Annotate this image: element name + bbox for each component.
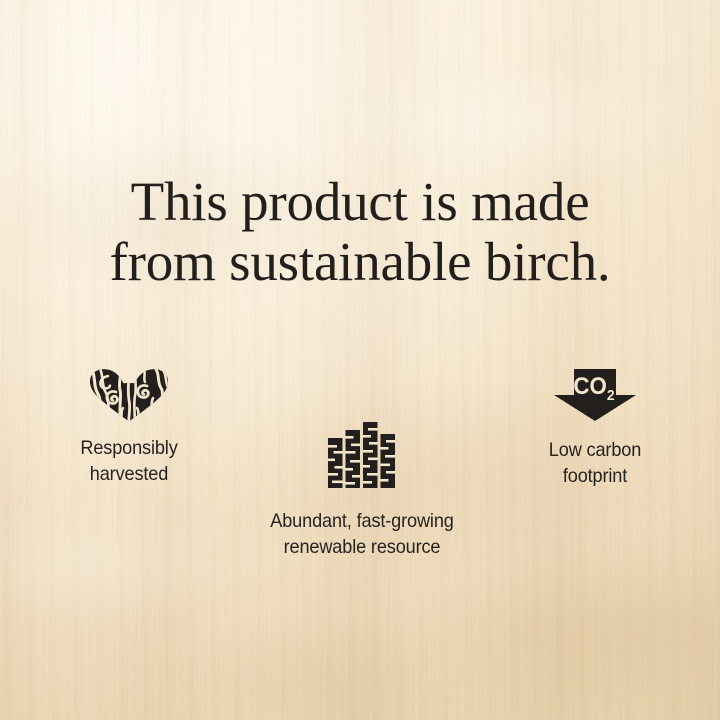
badge-responsibly-harvested: Responsibly harvested (29, 366, 229, 488)
badge-abundant-renewable: Abundant, fast-growing renewable resourc… (242, 420, 482, 561)
badge-label-line-1: Responsibly (36, 436, 222, 462)
badge-label-line-2: renewable resource (250, 535, 473, 561)
badge-label-abundant-renewable: Abundant, fast-growing renewable resourc… (250, 509, 473, 561)
woodgrain-heart-icon-wrap (29, 366, 229, 422)
co2-down-arrow-icon: CO2 (552, 368, 638, 422)
headline-line-1: This product is made (40, 172, 680, 232)
badge-label-line-2: footprint (502, 464, 688, 490)
badge-label-responsibly-harvested: Responsibly harvested (36, 436, 222, 488)
badge-label-line-1: Low carbon (502, 438, 688, 464)
birch-bark-bars-icon (328, 420, 396, 492)
badge-label-low-carbon-footprint: Low carbon footprint (502, 438, 688, 490)
badge-label-line-1: Abundant, fast-growing (250, 509, 473, 535)
badge-label-line-2: harvested (36, 462, 222, 488)
badge-low-carbon-footprint: CO2 Low carbon footprint (495, 366, 695, 490)
headline: This product is made from sustainable bi… (0, 172, 720, 292)
sustainable-birch-panel: This product is made from sustainable bi… (0, 0, 720, 720)
panel-content: This product is made from sustainable bi… (0, 0, 720, 720)
birch-bark-bars-icon-wrap (242, 420, 482, 492)
woodgrain-heart-icon (87, 368, 171, 422)
headline-line-2: from sustainable birch. (40, 232, 680, 292)
co2-down-arrow-icon-wrap: CO2 (495, 366, 695, 422)
